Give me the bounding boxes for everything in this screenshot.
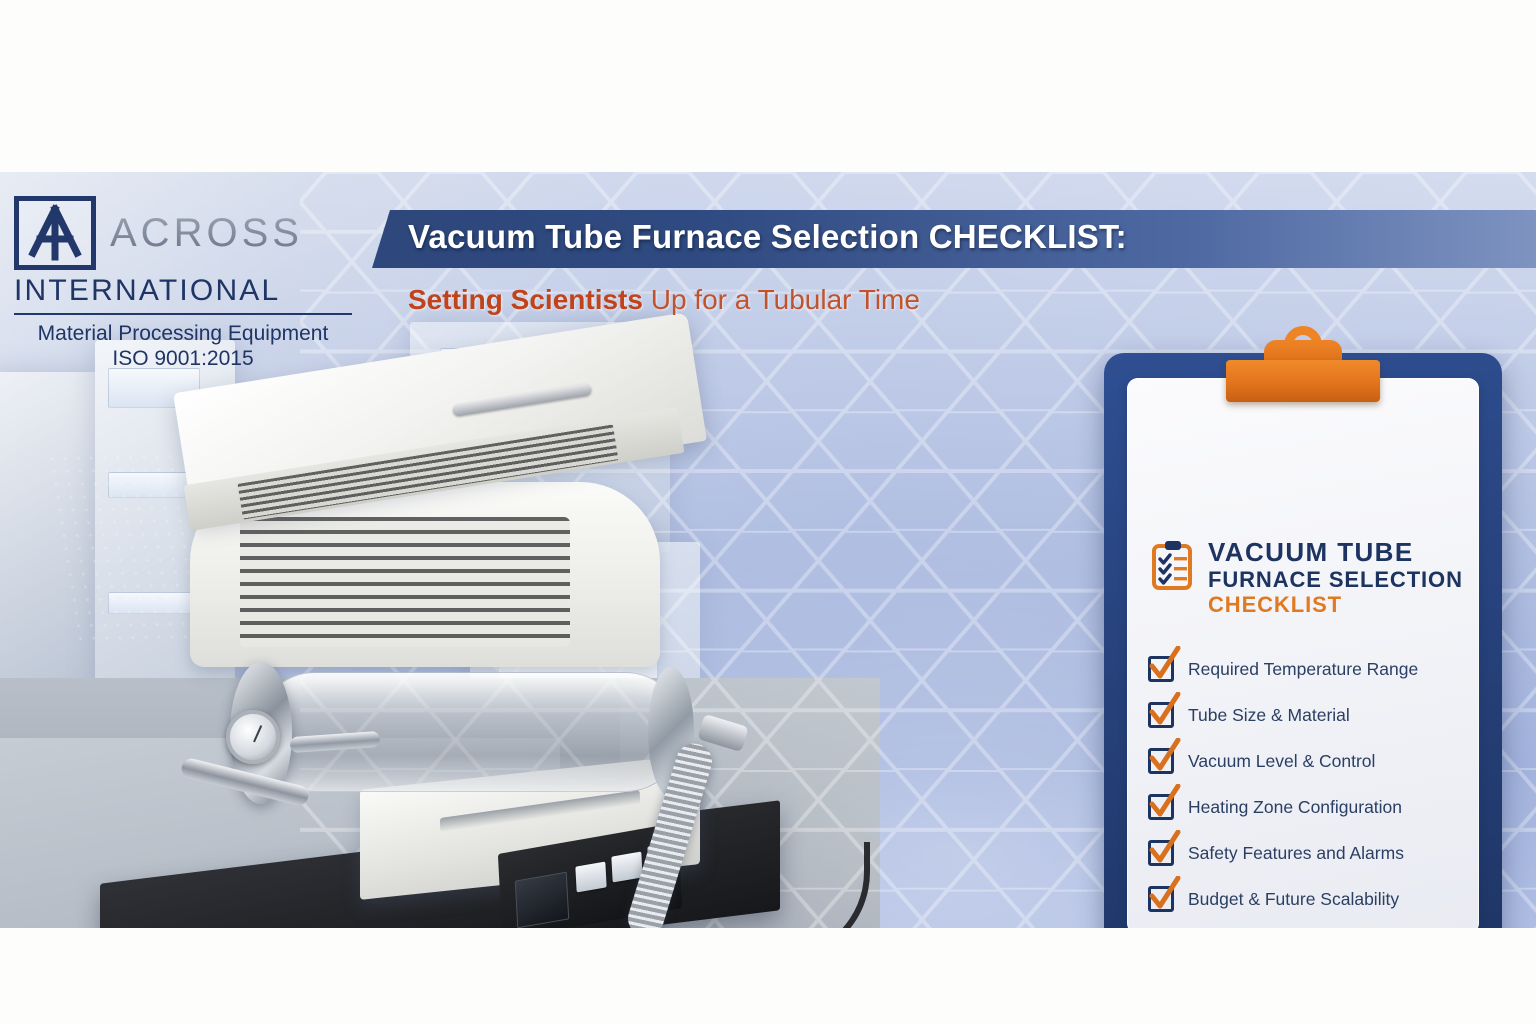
checkbox-checked-icon[interactable] <box>1148 840 1174 866</box>
checkbox-checked-icon[interactable] <box>1148 794 1174 820</box>
list-item[interactable]: Required Temperature Range <box>1148 646 1458 692</box>
list-item[interactable]: Tube Size & Material <box>1148 692 1458 738</box>
marketing-banner: Vacuum Tube Furnace Selection CHECKLIST:… <box>0 172 1536 928</box>
logo-tagline: Material Processing Equipment <box>14 321 352 347</box>
list-item[interactable]: Vacuum Level & Control <box>1148 738 1458 784</box>
list-item[interactable]: Budget & Future Scalability <box>1148 876 1458 922</box>
pressure-gauge <box>226 710 280 764</box>
brand-logo: ACROSS INTERNATIONAL Material Processing… <box>14 196 359 371</box>
list-item-label: Tube Size & Material <box>1188 705 1350 726</box>
logo-international-text: INTERNATIONAL <box>14 274 359 308</box>
page-subtitle: Setting Scientists Up for a Tubular Time <box>408 284 920 316</box>
checkbox-checked-icon[interactable] <box>1148 748 1174 774</box>
checklist-heading-line3: CHECKLIST <box>1208 594 1463 617</box>
checklist-heading-block: VACUUM TUBE FURNACE SELECTION CHECKLIST <box>1151 539 1463 617</box>
list-item-label: Safety Features and Alarms <box>1188 843 1404 864</box>
subtitle-rest-part: Up for a Tubular Time <box>643 284 920 315</box>
subtitle-bold-part: Setting Scientists <box>408 284 643 315</box>
checkbox-checked-icon[interactable] <box>1148 656 1174 682</box>
across-a-monogram-icon <box>14 196 96 270</box>
logo-wordmark: ACROSS <box>110 213 303 253</box>
checkbox-checked-icon[interactable] <box>1148 886 1174 912</box>
logo-divider <box>14 313 352 315</box>
checklist-heading-line2: FURNACE SELECTION <box>1208 569 1463 592</box>
checklist-clipboard-card: VACUUM TUBE FURNACE SELECTION CHECKLIST … <box>1104 334 1502 928</box>
checklist-items-list: Required Temperature Range Tube Size & M… <box>1148 646 1458 922</box>
checklist-heading-line1: VACUUM TUBE <box>1208 539 1463 566</box>
logo-iso-certification: ISO 9001:2015 <box>14 347 352 371</box>
list-item[interactable]: Safety Features and Alarms <box>1148 830 1458 876</box>
list-item[interactable]: Heating Zone Configuration <box>1148 784 1458 830</box>
list-item-label: Heating Zone Configuration <box>1188 797 1402 818</box>
list-item-label: Budget & Future Scalability <box>1188 889 1399 910</box>
page-title: Vacuum Tube Furnace Selection CHECKLIST: <box>408 218 1127 256</box>
checkbox-checked-icon[interactable] <box>1148 702 1174 728</box>
banner-page: Vacuum Tube Furnace Selection CHECKLIST:… <box>0 0 1536 1024</box>
list-item-label: Vacuum Level & Control <box>1188 751 1375 772</box>
vacuum-tube-furnace-photo <box>60 342 860 928</box>
checklist-clipboard-icon <box>1151 539 1195 591</box>
list-item-label: Required Temperature Range <box>1188 659 1418 680</box>
